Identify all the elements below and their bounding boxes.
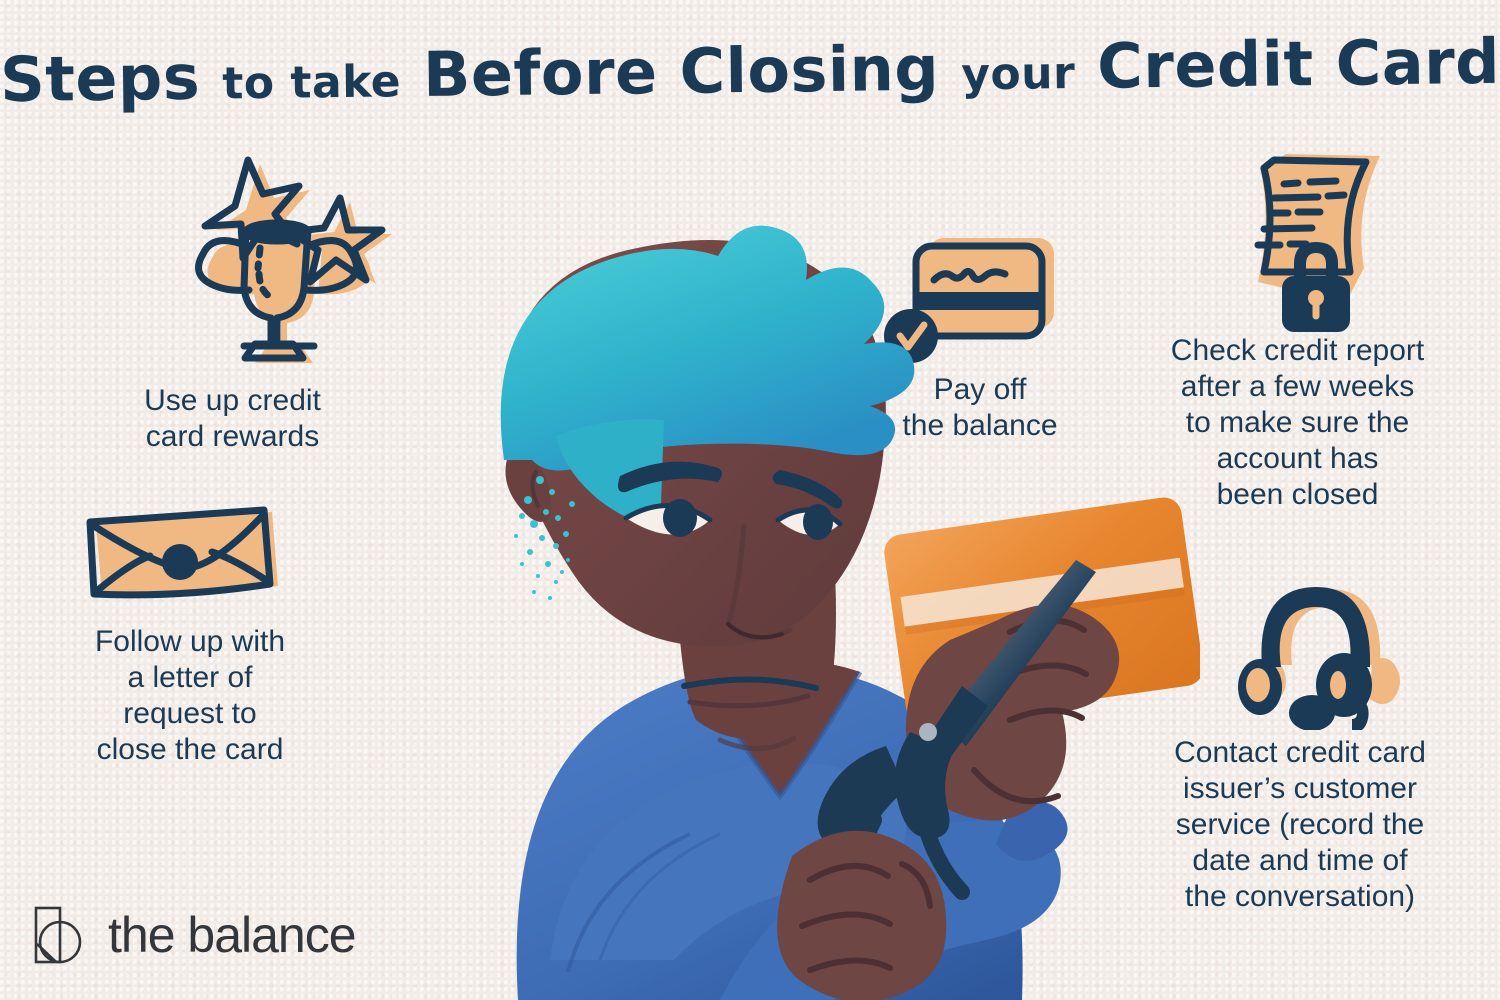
the-balance-logo: the balance <box>30 895 360 975</box>
title-part-5: Credit Card <box>1097 25 1500 103</box>
wax-seal-dot <box>162 544 198 580</box>
step-label-contact: Contact credit cardissuer’s customerserv… <box>1130 735 1470 915</box>
step-label-rewards: Use up creditcard rewards <box>60 383 405 455</box>
step-label-payoff: Pay offthe balance <box>850 372 1110 444</box>
headset-icon <box>1228 565 1403 730</box>
step-label-letter: Follow up witha letter ofrequest toclose… <box>40 624 340 768</box>
infographic-canvas: Steps to take Before Closing your Credit… <box>0 0 1500 1000</box>
title-part-3: Before Closing <box>423 32 940 111</box>
logo-wordmark: the balance <box>108 910 356 960</box>
document-lock-icon <box>1228 150 1393 335</box>
title-part-2: to take <box>222 56 401 109</box>
the-balance-b-monogram-icon <box>30 904 92 966</box>
illustration-person-cutting-card <box>250 120 1200 1000</box>
step-label-report: Check credit reportafter a few weeksto m… <box>1130 333 1465 513</box>
microphone-tip <box>1289 695 1335 730</box>
title-part-4: your <box>961 48 1076 100</box>
title-part-1: Steps <box>0 41 201 116</box>
page-title: Steps to take Before Closing your Credit… <box>0 25 1500 116</box>
